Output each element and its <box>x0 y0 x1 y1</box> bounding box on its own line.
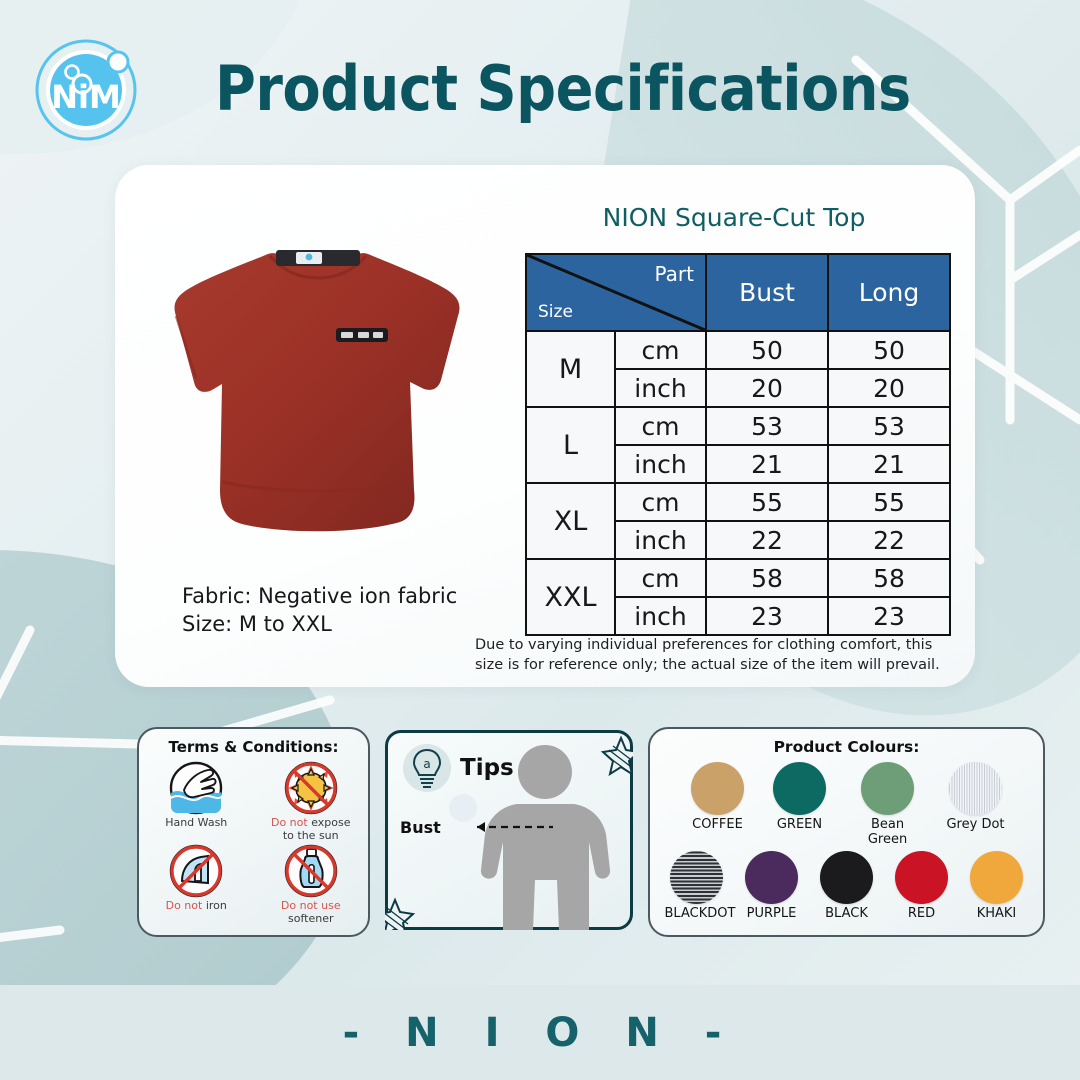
page-title: Product Specifications <box>215 52 911 125</box>
colour-swatch[interactable]: PURPLE <box>740 851 804 922</box>
svg-text:a: a <box>423 757 430 771</box>
star-decoration-icon <box>603 738 633 774</box>
colour-dot <box>745 851 798 904</box>
colour-row-2: BLACKDOTPURPLEBLACKREDKHAKI <box>650 851 1043 922</box>
colour-dot <box>670 851 723 904</box>
colour-dot <box>820 851 873 904</box>
corner-size-label: Size <box>538 302 573 322</box>
table-row: XLcm5555 <box>526 483 950 521</box>
care-item-hand-wash: Hand Wash <box>139 760 254 843</box>
colour-swatch[interactable]: GREEN <box>768 762 832 833</box>
colour-label: BLACKDOT <box>665 907 729 922</box>
no-softener-icon <box>283 843 339 899</box>
tips-title: Tips <box>460 755 514 781</box>
terms-conditions-panel: Terms & Conditions: Hand Wash <box>137 727 370 937</box>
corner-part-label: Part <box>655 262 694 286</box>
cell-unit: inch <box>615 597 706 635</box>
fabric-line: Fabric: Negative ion fabric <box>182 583 457 611</box>
table-row: XXLcm5858 <box>526 559 950 597</box>
cell-long: 21 <box>828 445 950 483</box>
cell-bust: 50 <box>706 331 828 369</box>
cell-long: 22 <box>828 521 950 559</box>
cell-unit: cm <box>615 331 706 369</box>
cell-bust: 55 <box>706 483 828 521</box>
colour-swatch[interactable]: BLACK <box>815 851 879 922</box>
cell-unit: inch <box>615 521 706 559</box>
cell-long: 23 <box>828 597 950 635</box>
product-colours-panel: Product Colours: COFFEEGREENBean GreenGr… <box>648 727 1045 937</box>
cell-bust: 23 <box>706 597 828 635</box>
terms-title: Terms & Conditions: <box>139 738 368 756</box>
colour-label: KHAKI <box>965 907 1029 922</box>
cell-long: 53 <box>828 407 950 445</box>
nim-logo-icon: NiM <box>30 32 142 144</box>
no-iron-icon <box>168 843 224 899</box>
colour-swatch[interactable]: RED <box>890 851 954 922</box>
logo-text: NiM <box>51 78 121 116</box>
cell-bust: 20 <box>706 369 828 407</box>
cell-long: 58 <box>828 559 950 597</box>
care-label-no-iron: Do not iron <box>139 900 254 913</box>
care-item-no-softener: Do not use softener <box>254 843 369 926</box>
colour-swatch[interactable]: KHAKI <box>965 851 1029 922</box>
colour-row-1: COFFEEGREENBean GreenGrey Dot <box>650 762 1043 847</box>
cell-bust: 58 <box>706 559 828 597</box>
cell-size: L <box>526 407 615 483</box>
colour-label: BLACK <box>815 907 879 922</box>
colour-swatch[interactable]: Bean Green <box>850 762 926 847</box>
cell-long: 55 <box>828 483 950 521</box>
cell-size: M <box>526 331 615 407</box>
cell-size: XXL <box>526 559 615 635</box>
cell-unit: cm <box>615 559 706 597</box>
product-photo <box>150 232 490 562</box>
fabric-info: Fabric: Negative ion fabric Size: M to X… <box>182 583 457 638</box>
tips-bust-label: Bust <box>400 818 441 837</box>
colour-dot <box>949 762 1002 815</box>
size-disclaimer: Due to varying individual preferences fo… <box>475 635 945 675</box>
care-item-no-sun: Do not expose to the sun <box>254 760 369 843</box>
cell-size: XL <box>526 483 615 559</box>
cell-long: 20 <box>828 369 950 407</box>
table-header-row: Part Size Bust Long <box>526 254 950 331</box>
table-row: Mcm5050 <box>526 331 950 369</box>
colour-dot <box>861 762 914 815</box>
cell-unit: inch <box>615 369 706 407</box>
colour-dot <box>895 851 948 904</box>
care-label-hand-wash: Hand Wash <box>139 817 254 830</box>
cell-bust: 22 <box>706 521 828 559</box>
cell-long: 50 <box>828 331 950 369</box>
page-header: NiM Product Specifications <box>0 0 1080 165</box>
infographic-canvas: NiM Product Specifications Fabric: Negat… <box>0 0 1080 1080</box>
care-item-no-iron: Do not iron <box>139 843 254 926</box>
colour-label: COFFEE <box>686 818 750 833</box>
colour-label: PURPLE <box>740 907 804 922</box>
colour-swatch[interactable]: COFFEE <box>686 762 750 833</box>
no-sun-icon <box>283 760 339 816</box>
column-header-bust: Bust <box>706 254 828 331</box>
colour-swatch[interactable]: Grey Dot <box>944 762 1008 833</box>
cell-unit: cm <box>615 407 706 445</box>
colours-title: Product Colours: <box>650 738 1043 756</box>
page-footer: - N I O N - <box>0 985 1080 1080</box>
size-chart-table: Part Size Bust Long Mcm5050inch2020Lcm53… <box>525 253 951 636</box>
hand-wash-icon <box>168 760 224 816</box>
colour-label: RED <box>890 907 954 922</box>
cell-bust: 21 <box>706 445 828 483</box>
cell-bust: 53 <box>706 407 828 445</box>
colour-label: Grey Dot <box>944 818 1008 833</box>
colour-label: Bean Green <box>850 818 926 847</box>
colour-swatch[interactable]: BLACKDOT <box>665 851 729 922</box>
star-decoration-icon-2 <box>385 900 413 930</box>
table-row: Lcm5353 <box>526 407 950 445</box>
care-label-no-softener: Do not use softener <box>254 900 369 926</box>
size-table-title: NION Square-Cut Top <box>522 203 946 232</box>
colour-dot <box>691 762 744 815</box>
size-range-line: Size: M to XXL <box>182 611 457 639</box>
colour-label: GREEN <box>768 818 832 833</box>
cell-unit: cm <box>615 483 706 521</box>
corner-cell: Part Size <box>526 254 706 331</box>
care-label-no-sun: Do not expose to the sun <box>254 817 369 843</box>
tips-panel: a Tip <box>385 730 633 930</box>
colour-dot <box>970 851 1023 904</box>
column-header-long: Long <box>828 254 950 331</box>
colour-dot <box>773 762 826 815</box>
footer-brand: - N I O N - <box>343 1010 738 1056</box>
cell-unit: inch <box>615 445 706 483</box>
